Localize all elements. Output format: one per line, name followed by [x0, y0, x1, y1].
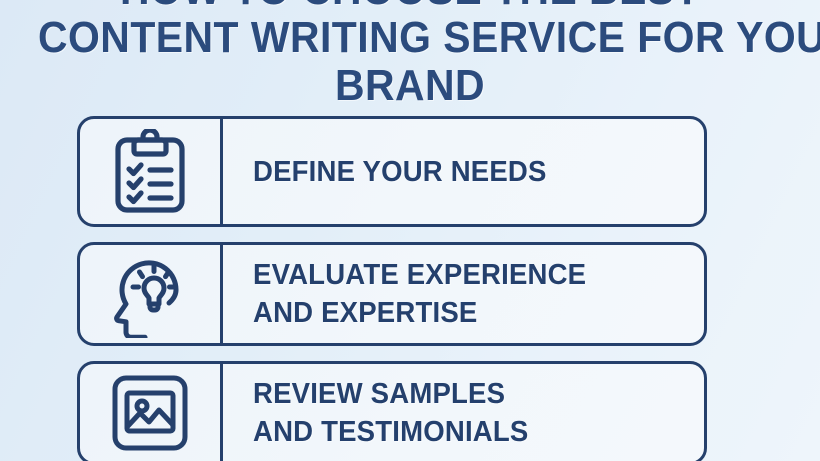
step-label: Review Samples and Testimonials [253, 375, 528, 451]
step-text-cell: Review Samples and Testimonials [223, 364, 704, 461]
step-icon-cell [80, 119, 223, 224]
page-title-line-3: Brand [38, 62, 782, 110]
page-title: How to Choose the Best Content Writing S… [0, 0, 820, 110]
head-lightbulb-icon [106, 250, 194, 338]
step-card-define-your-needs[interactable]: Define Your Needs [77, 116, 707, 227]
step-label: Define Your Needs [253, 153, 547, 191]
page-title-line-2: Content Writing Service for Your [38, 14, 782, 62]
page-title-line-1: How to Choose the Best [38, 0, 782, 14]
step-icon-cell [80, 245, 223, 343]
step-label: Evaluate Experience and Expertise [253, 256, 586, 332]
step-icon-cell [80, 364, 223, 461]
step-card-evaluate-experience-and-expertise[interactable]: Evaluate Experience and Expertise [77, 242, 707, 346]
photo-image-icon [110, 373, 190, 453]
step-text-cell: Define Your Needs [223, 119, 704, 224]
steps-list: Define Your Needs Evaluate Experi [77, 116, 707, 461]
step-card-review-samples-and-testimonials[interactable]: Review Samples and Testimonials [77, 361, 707, 461]
clipboard-checklist-icon [112, 129, 188, 215]
step-text-cell: Evaluate Experience and Expertise [223, 245, 704, 343]
